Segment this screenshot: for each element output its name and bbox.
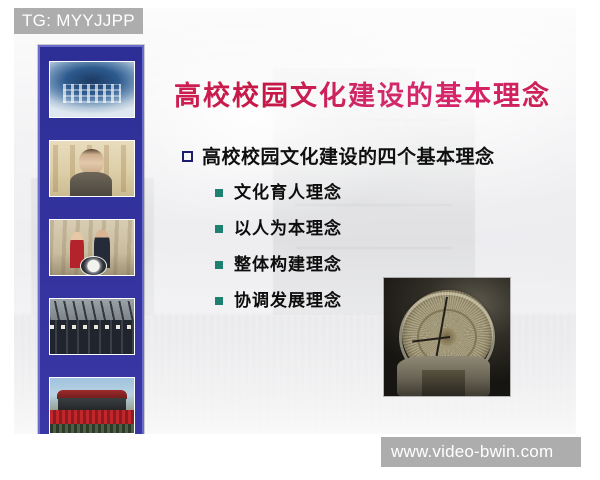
podium-ceremony-photo[interactable] xyxy=(49,219,135,276)
solid-square-bullet-icon xyxy=(215,297,223,305)
stadium-assembly-photo[interactable] xyxy=(49,377,135,434)
slide-canvas: 高校校园文化建设的基本理念 高校校园文化建设的四个基本理念 文化育人理念 以人为… xyxy=(14,8,576,434)
engraved-stone-photo[interactable] xyxy=(49,61,135,118)
hollow-square-bullet-icon xyxy=(182,151,193,162)
sub-bullet-label: 协调发展理念 xyxy=(234,290,342,312)
presentation-slide: 高校校园文化建设的基本理念 高校校园文化建设的四个基本理念 文化育人理念 以人为… xyxy=(0,0,600,480)
slide-title: 高校校园文化建设的基本理念 xyxy=(174,74,566,113)
stone-sundial-photo[interactable] xyxy=(384,278,510,396)
sub-bullet-label: 以人为本理念 xyxy=(234,218,342,240)
portrait-calligraphy-photo[interactable] xyxy=(49,140,135,197)
sub-bullet-label: 整体构建理念 xyxy=(234,254,342,276)
main-bullet-label: 高校校园文化建设的四个基本理念 xyxy=(202,144,495,170)
solid-square-bullet-icon xyxy=(215,261,223,269)
watermark-top-left: TG: MYYJJPP xyxy=(14,8,143,34)
honour-guard-photo[interactable] xyxy=(49,298,135,355)
solid-square-bullet-icon xyxy=(215,225,223,233)
watermark-bottom-right: www.video-bwin.com xyxy=(381,437,581,467)
photo-strip-panel xyxy=(38,45,144,434)
sub-bullet-label: 文化育人理念 xyxy=(234,182,342,204)
main-bullet: 高校校园文化建设的四个基本理念 xyxy=(182,144,572,170)
bullet-list: 高校校园文化建设的四个基本理念 文化育人理念 以人为本理念 整体构建理念 协 xyxy=(182,144,572,326)
solid-square-bullet-icon xyxy=(215,189,223,197)
list-item: 以人为本理念 xyxy=(215,218,572,240)
list-item: 整体构建理念 xyxy=(215,254,572,276)
list-item: 文化育人理念 xyxy=(215,182,572,204)
